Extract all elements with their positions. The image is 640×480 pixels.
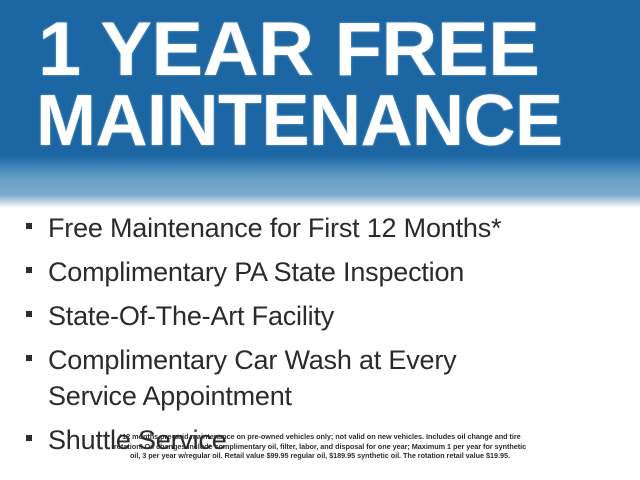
headline-line-2: MAINTENANCE (36, 86, 622, 156)
disclaimer-text: *12 months pre-paid maintenance on pre-o… (50, 432, 590, 461)
list-item: Complimentary PA State Inspection (26, 254, 626, 290)
list-item: Complimentary Car Wash at Every Service … (26, 342, 626, 414)
disclaimer-line-1: *12 months pre-paid maintenance on pre-o… (50, 432, 590, 442)
list-item-label: Free Maintenance for First 12 Months* (48, 210, 626, 246)
headline-line-1: 1 YEAR FREE (38, 14, 634, 86)
list-item-label: Complimentary Car Wash at Every Service … (48, 342, 548, 414)
square-bullet-icon (26, 223, 32, 229)
list-item: State-Of-The-Art Facility (26, 298, 626, 334)
headline-banner: 1 YEAR FREE MAINTENANCE (0, 0, 640, 208)
square-bullet-icon (26, 267, 32, 273)
disclaimer-line-3: oil, 3 per year w/regular oil. Retail va… (50, 451, 590, 461)
advertisement-root: 1 YEAR FREE MAINTENANCE Free Maintenance… (0, 0, 640, 480)
list-item-label: Complimentary PA State Inspection (48, 254, 626, 290)
square-bullet-icon (26, 355, 32, 361)
square-bullet-icon (26, 435, 32, 441)
headline-block: 1 YEAR FREE MAINTENANCE (38, 14, 622, 156)
list-item-label: State-Of-The-Art Facility (48, 298, 626, 334)
square-bullet-icon (26, 311, 32, 317)
banner-gradient-fade (0, 156, 640, 208)
list-item: Free Maintenance for First 12 Months* (26, 210, 626, 246)
offer-list: Free Maintenance for First 12 Months* Co… (26, 210, 626, 466)
disclaimer-line-2: rotation. Oil changes include compliment… (50, 442, 590, 452)
